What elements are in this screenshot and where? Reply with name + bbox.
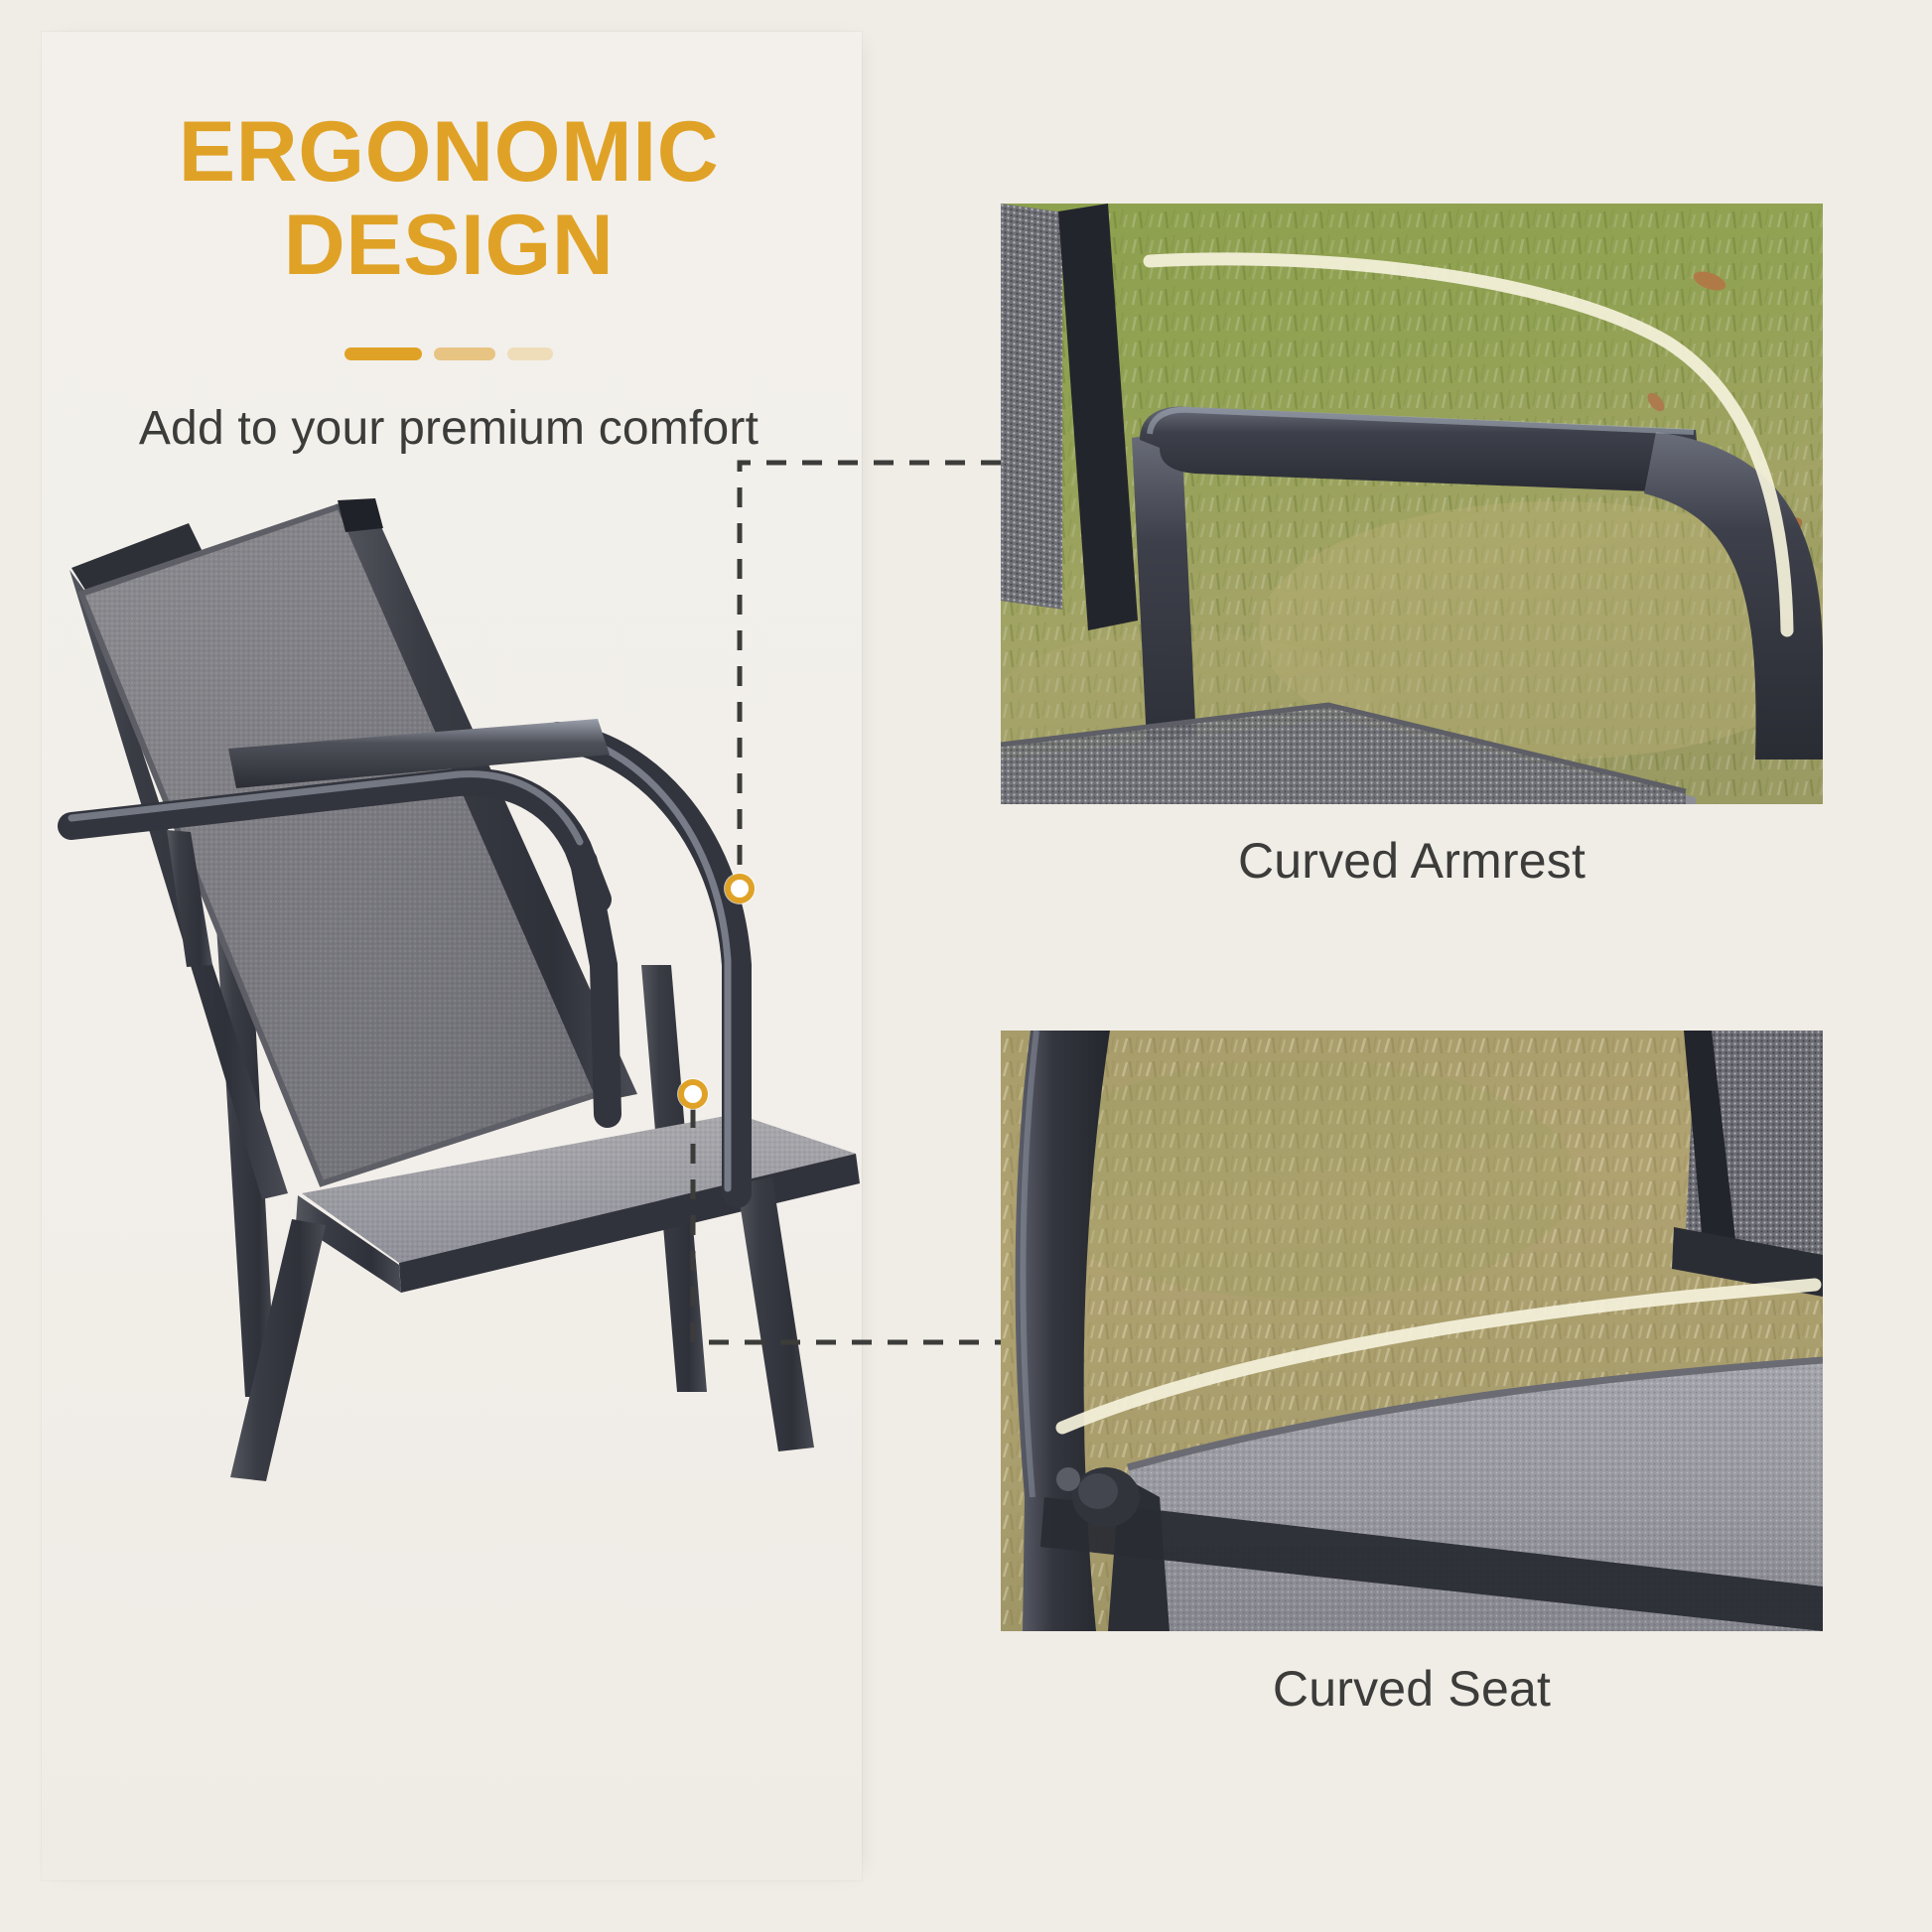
divider-dash-solid — [345, 347, 422, 360]
caption-armrest: Curved Armrest — [1001, 832, 1823, 890]
chair-illustration — [42, 498, 862, 1491]
detail-panel-armrest[interactable] — [1001, 204, 1823, 804]
page-title: ERGONOMIC DESIGN — [91, 109, 806, 289]
divider-dash-light — [507, 347, 553, 360]
callout-marker-armrest[interactable] — [725, 874, 755, 903]
callout-marker-seat[interactable] — [678, 1079, 708, 1109]
left-feature-card: ERGONOMIC DESIGN Add to your premium com… — [42, 32, 862, 1880]
armrest-closeup-photo — [1001, 204, 1823, 804]
infographic-stage: ERGONOMIC DESIGN Add to your premium com… — [0, 0, 1932, 1932]
caption-seat: Curved Seat — [1001, 1660, 1823, 1718]
page-title-line-2: DESIGN — [91, 203, 806, 290]
page-title-line-1: ERGONOMIC — [91, 109, 806, 197]
seat-closeup-photo — [1001, 1031, 1823, 1631]
page-subtitle: Add to your premium comfort — [62, 401, 836, 456]
product-photo-chair — [42, 498, 862, 1491]
detail-panel-seat[interactable] — [1001, 1031, 1823, 1631]
title-divider — [91, 347, 806, 360]
divider-dash-mid — [434, 347, 495, 360]
